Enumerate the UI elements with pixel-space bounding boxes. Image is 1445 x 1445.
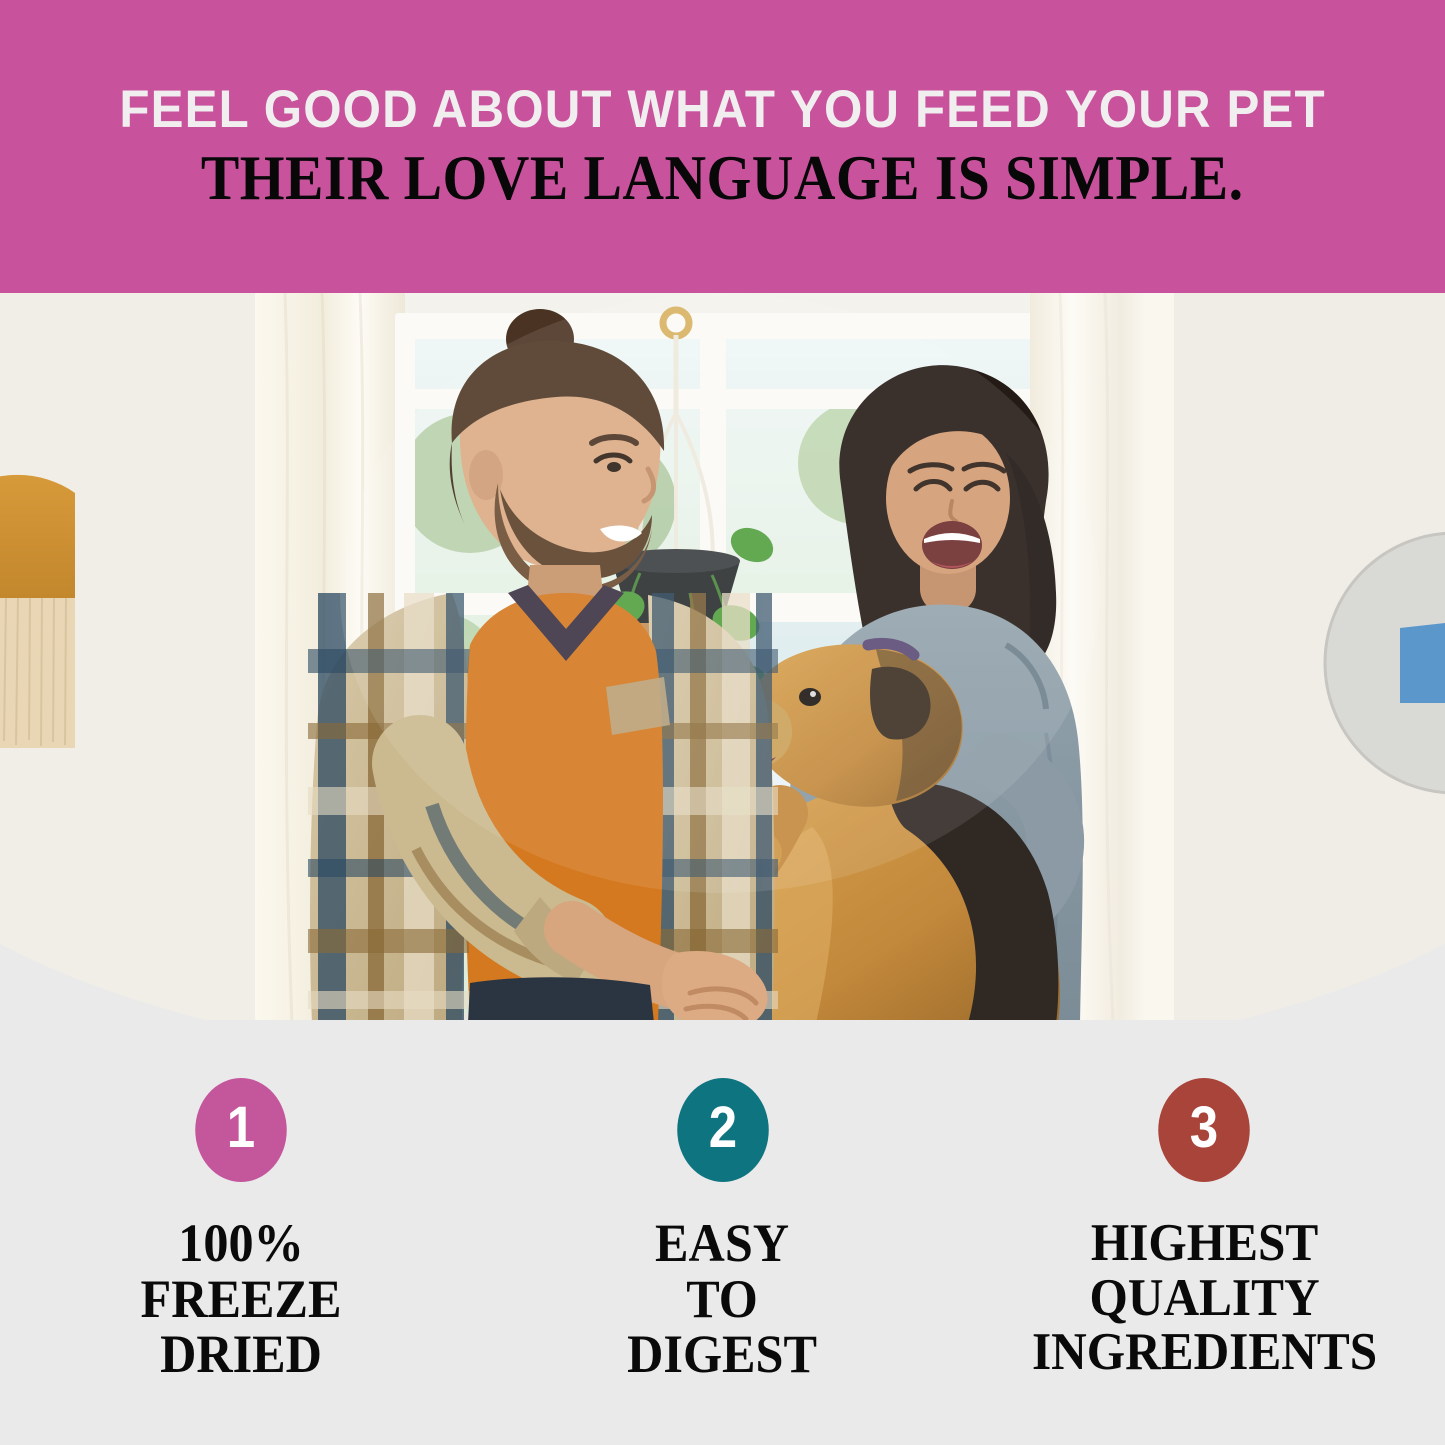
header-band: FEEL GOOD ABOUT WHAT YOU FEED YOUR PET T…: [0, 0, 1445, 293]
features-row: 1 100% FREEZE DRIED 2 EASY TO DIGEST 3 H…: [0, 1020, 1445, 1383]
feature-number-1: 1: [227, 1099, 255, 1157]
hero-photo-illustration: [0, 293, 1445, 1023]
feature-item-3: 3 HIGHEST QUALITY INGREDIENTS: [963, 1020, 1445, 1383]
page-subtitle: THEIR LOVE LANGUAGE IS SIMPLE.: [201, 144, 1244, 211]
feature-label-2: EASY TO DIGEST: [628, 1216, 818, 1383]
feature-label-3: HIGHEST QUALITY INGREDIENTS: [1032, 1216, 1377, 1380]
feature-item-2: 2 EASY TO DIGEST: [482, 1020, 964, 1383]
feature-label-1: 100% FREEZE DRIED: [140, 1216, 341, 1383]
feature-number-2: 2: [708, 1099, 736, 1157]
promo-banner: FEEL GOOD ABOUT WHAT YOU FEED YOUR PET T…: [0, 0, 1445, 1445]
hero-photo: [0, 293, 1445, 1023]
page-title: FEEL GOOD ABOUT WHAT YOU FEED YOUR PET: [119, 82, 1325, 138]
feature-badge-1: 1: [195, 1078, 287, 1182]
feature-badge-3: 3: [1158, 1078, 1250, 1182]
feature-number-3: 3: [1190, 1099, 1218, 1157]
feature-item-1: 1 100% FREEZE DRIED: [0, 1020, 482, 1383]
feature-badge-2: 2: [677, 1078, 769, 1182]
features-section: 1 100% FREEZE DRIED 2 EASY TO DIGEST 3 H…: [0, 1020, 1445, 1445]
